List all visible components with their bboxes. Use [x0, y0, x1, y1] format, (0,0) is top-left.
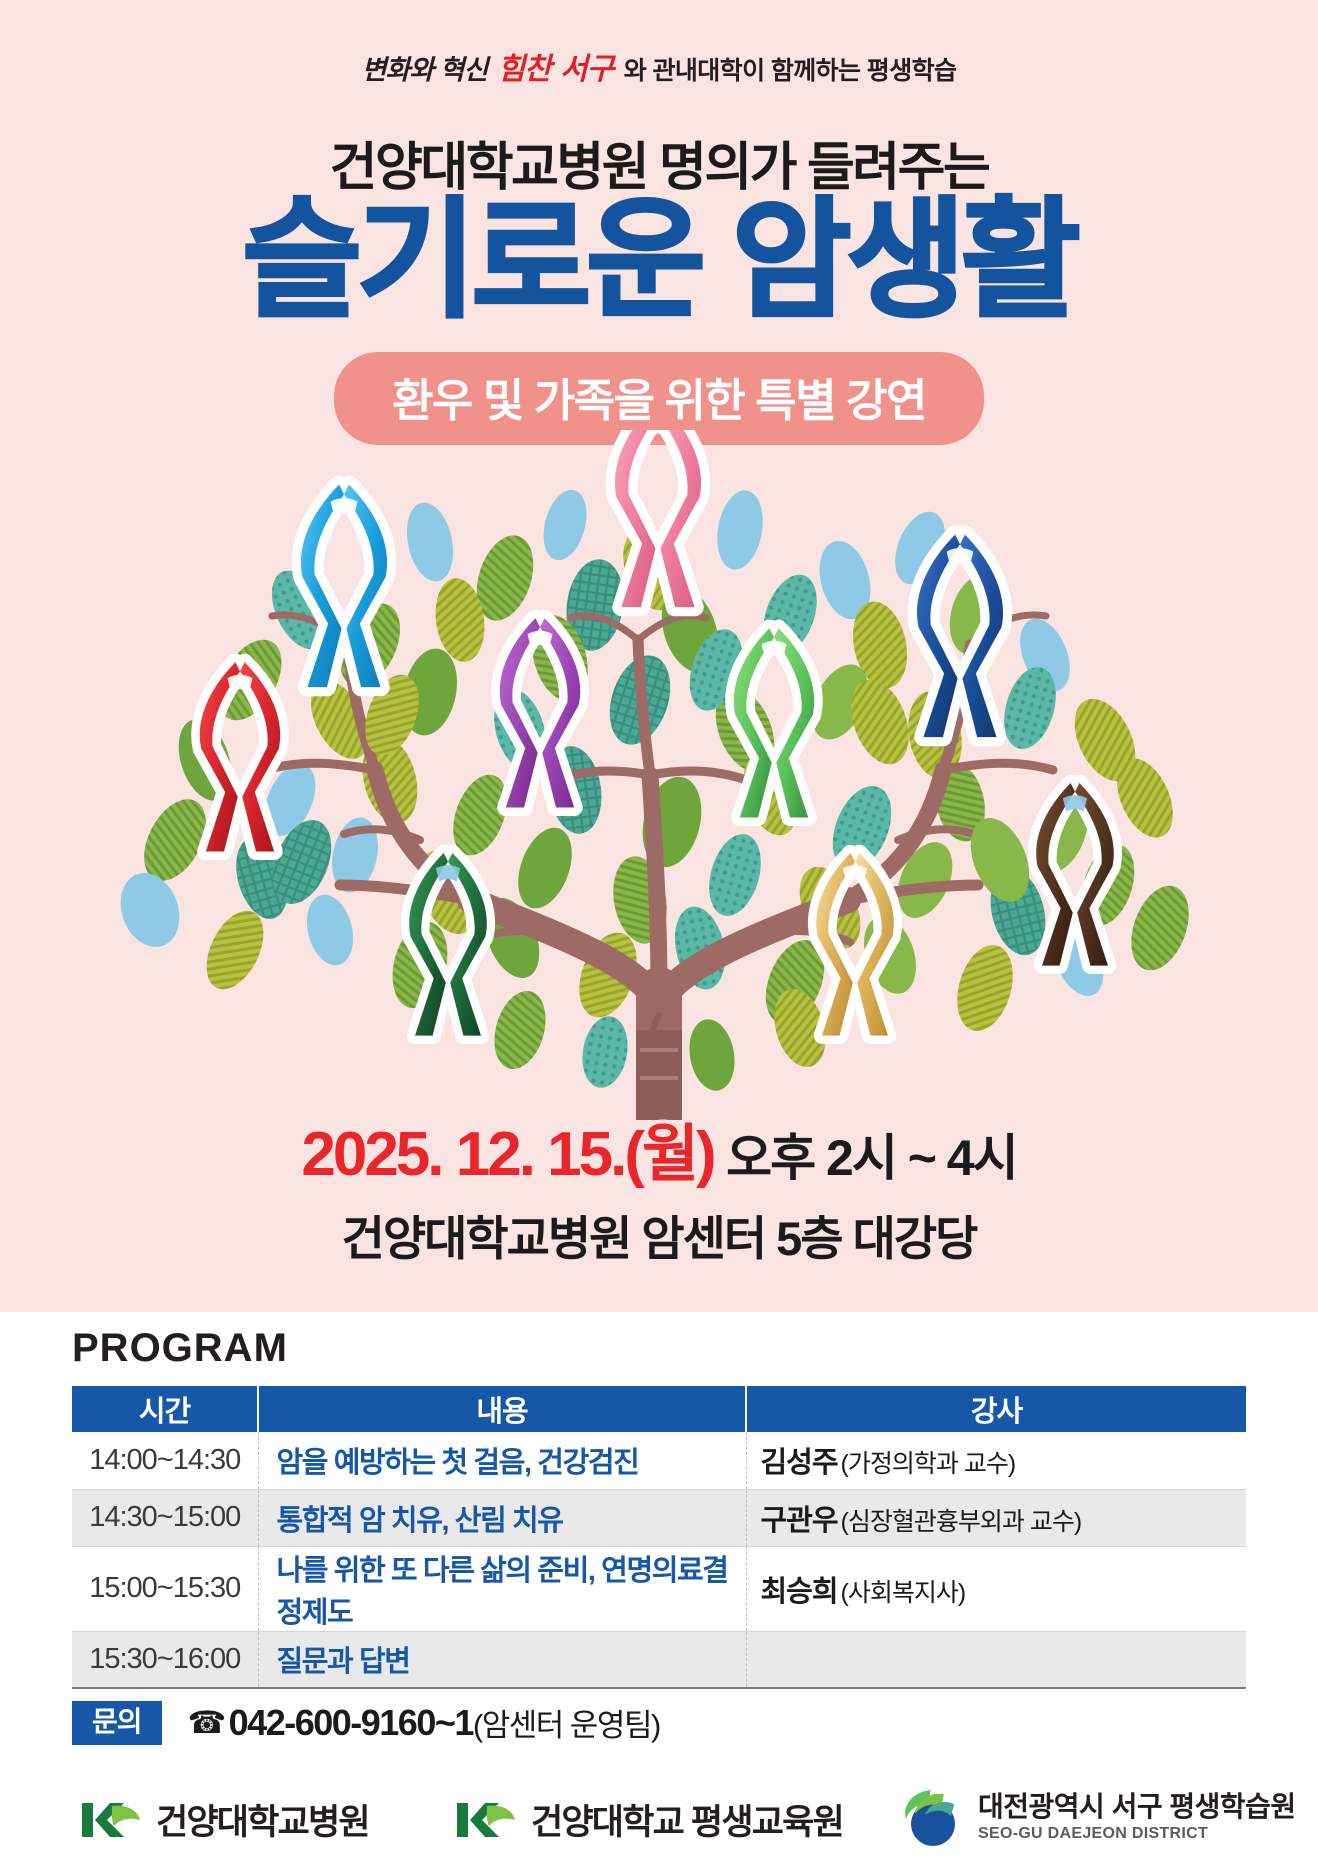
row-topic: 질문과 답변 [258, 1631, 746, 1688]
seogu-label-en: SEO-GU DAEJEON DISTRICT [978, 1824, 1296, 1843]
program-table: 시간 내용 강사 14:00~14:30 암을 예방하는 첫 걸음, 건강검진 … [72, 1386, 1246, 1689]
organizer-brand-line: 변화와 혁신 힘찬 서구 와 관내대학이 함께하는 평생학습 [0, 44, 1318, 88]
event-datetime: 2025. 12. 15.(월) 오후 2시 ~ 4시 [0, 1124, 1318, 1186]
telephone-icon: ☎ [188, 1705, 225, 1741]
column-header-topic: 내용 [258, 1386, 746, 1432]
contact-team: (암센터 운영팀) [473, 1700, 660, 1745]
row-speaker: 최승희(사회복지사) [746, 1546, 1246, 1631]
tree-trunk-base [636, 1015, 682, 1120]
row-topic: 나를 위한 또 다른 삶의 준비, 연명의료결정제도 [258, 1546, 746, 1631]
table-row: 15:30~16:00 질문과 답변 [72, 1631, 1246, 1688]
program-heading: PROGRAM [72, 1326, 288, 1371]
ribbon-gold [816, 853, 894, 1036]
row-time: 15:00~15:30 [72, 1546, 258, 1631]
logo-label: 건양대학교 평생교육원 [531, 1794, 843, 1845]
speaker-role: (사회복지사) [841, 1579, 966, 1607]
column-header-time: 시간 [72, 1386, 258, 1432]
brand-text-innovation: 혁신 [439, 55, 487, 86]
event-venue: 건양대학교병원 암센터 5층 대강당 [0, 1200, 1318, 1269]
logo-konyang-lifelong-education: 건양대학교 평생교육원 [455, 1794, 843, 1845]
seogu-logo-text: 대전광역시 서구 평생학습원 SEO-GU DAEJEON DISTRICT [978, 1791, 1296, 1842]
footer-logos: 건양대학교병원 건양대학교 평생교육원 [0, 1786, 1318, 1864]
contact-row: 문의 ☎042-600-9160~1(암센터 운영팀) [72, 1700, 660, 1745]
row-time: 14:30~15:00 [72, 1489, 258, 1546]
hero-panel: 변화와 혁신 힘찬 서구 와 관내대학이 함께하는 평생학습 건양대학교병원 명… [0, 0, 1318, 1312]
row-speaker [746, 1631, 1246, 1688]
row-speaker: 김성주(가정의학과 교수) [746, 1432, 1246, 1489]
speaker-name: 구관우 [761, 1505, 838, 1537]
program-table-header-row: 시간 내용 강사 [72, 1386, 1246, 1432]
column-header-speaker: 강사 [746, 1386, 1246, 1432]
speaker-role: (심장혈관흉부외과 교수) [841, 1508, 1082, 1536]
poster-root: 변화와 혁신 힘찬 서구 와 관내대학이 함께하는 평생학습 건양대학교병원 명… [0, 0, 1318, 1864]
contact-phone-number: 042-600-9160~1 [229, 1702, 473, 1744]
row-time: 14:00~14:30 [72, 1432, 258, 1489]
konyang-ky-icon [80, 1800, 142, 1840]
inquiry-badge: 문의 [72, 1701, 162, 1745]
speaker-name: 김성주 [761, 1447, 838, 1479]
table-row: 14:00~14:30 암을 예방하는 첫 걸음, 건강검진 김성주(가정의학과… [72, 1432, 1246, 1489]
konyang-ky-icon [455, 1800, 517, 1840]
row-topic: 암을 예방하는 첫 걸음, 건강검진 [258, 1432, 746, 1489]
brand-text-seogu: 힘찬 서구 [498, 52, 614, 87]
logo-seogu-daejeon: 대전광역시 서구 평생학습원 SEO-GU DAEJEON DISTRICT [900, 1786, 1296, 1848]
hero-title: 슬기로운 암생활 [0, 195, 1318, 325]
logo-konyang-hospital: 건양대학교병원 [80, 1794, 369, 1845]
awareness-ribbon-tree-illustration [0, 430, 1318, 1120]
brand-text-tail: 와 관내대학이 함께하는 평생학습 [624, 57, 957, 85]
table-row: 15:00~15:30 나를 위한 또 다른 삶의 준비, 연명의료결정제도 최… [72, 1546, 1246, 1631]
event-date: 2025. 12. 15.(월) [301, 1120, 713, 1189]
row-time: 15:30~16:00 [72, 1631, 258, 1688]
row-speaker: 구관우(심장혈관흉부외과 교수) [746, 1489, 1246, 1546]
speaker-name: 최승희 [761, 1576, 838, 1608]
speaker-role: (가정의학과 교수) [841, 1450, 1016, 1478]
seogu-label-kr: 대전광역시 서구 평생학습원 [978, 1791, 1296, 1823]
table-row: 14:30~15:00 통합적 암 치유, 산림 치유 구관우(심장혈관흉부외과… [72, 1489, 1246, 1546]
event-time: 오후 2시 ~ 4시 [726, 1130, 1017, 1186]
logo-label: 건양대학교병원 [156, 1794, 369, 1845]
seogu-swirl-icon [900, 1786, 962, 1848]
row-topic: 통합적 암 치유, 산림 치유 [258, 1489, 746, 1546]
contact-phone-group: ☎042-600-9160~1(암센터 운영팀) [188, 1700, 660, 1745]
brand-text-change: 변화와 [362, 55, 434, 86]
